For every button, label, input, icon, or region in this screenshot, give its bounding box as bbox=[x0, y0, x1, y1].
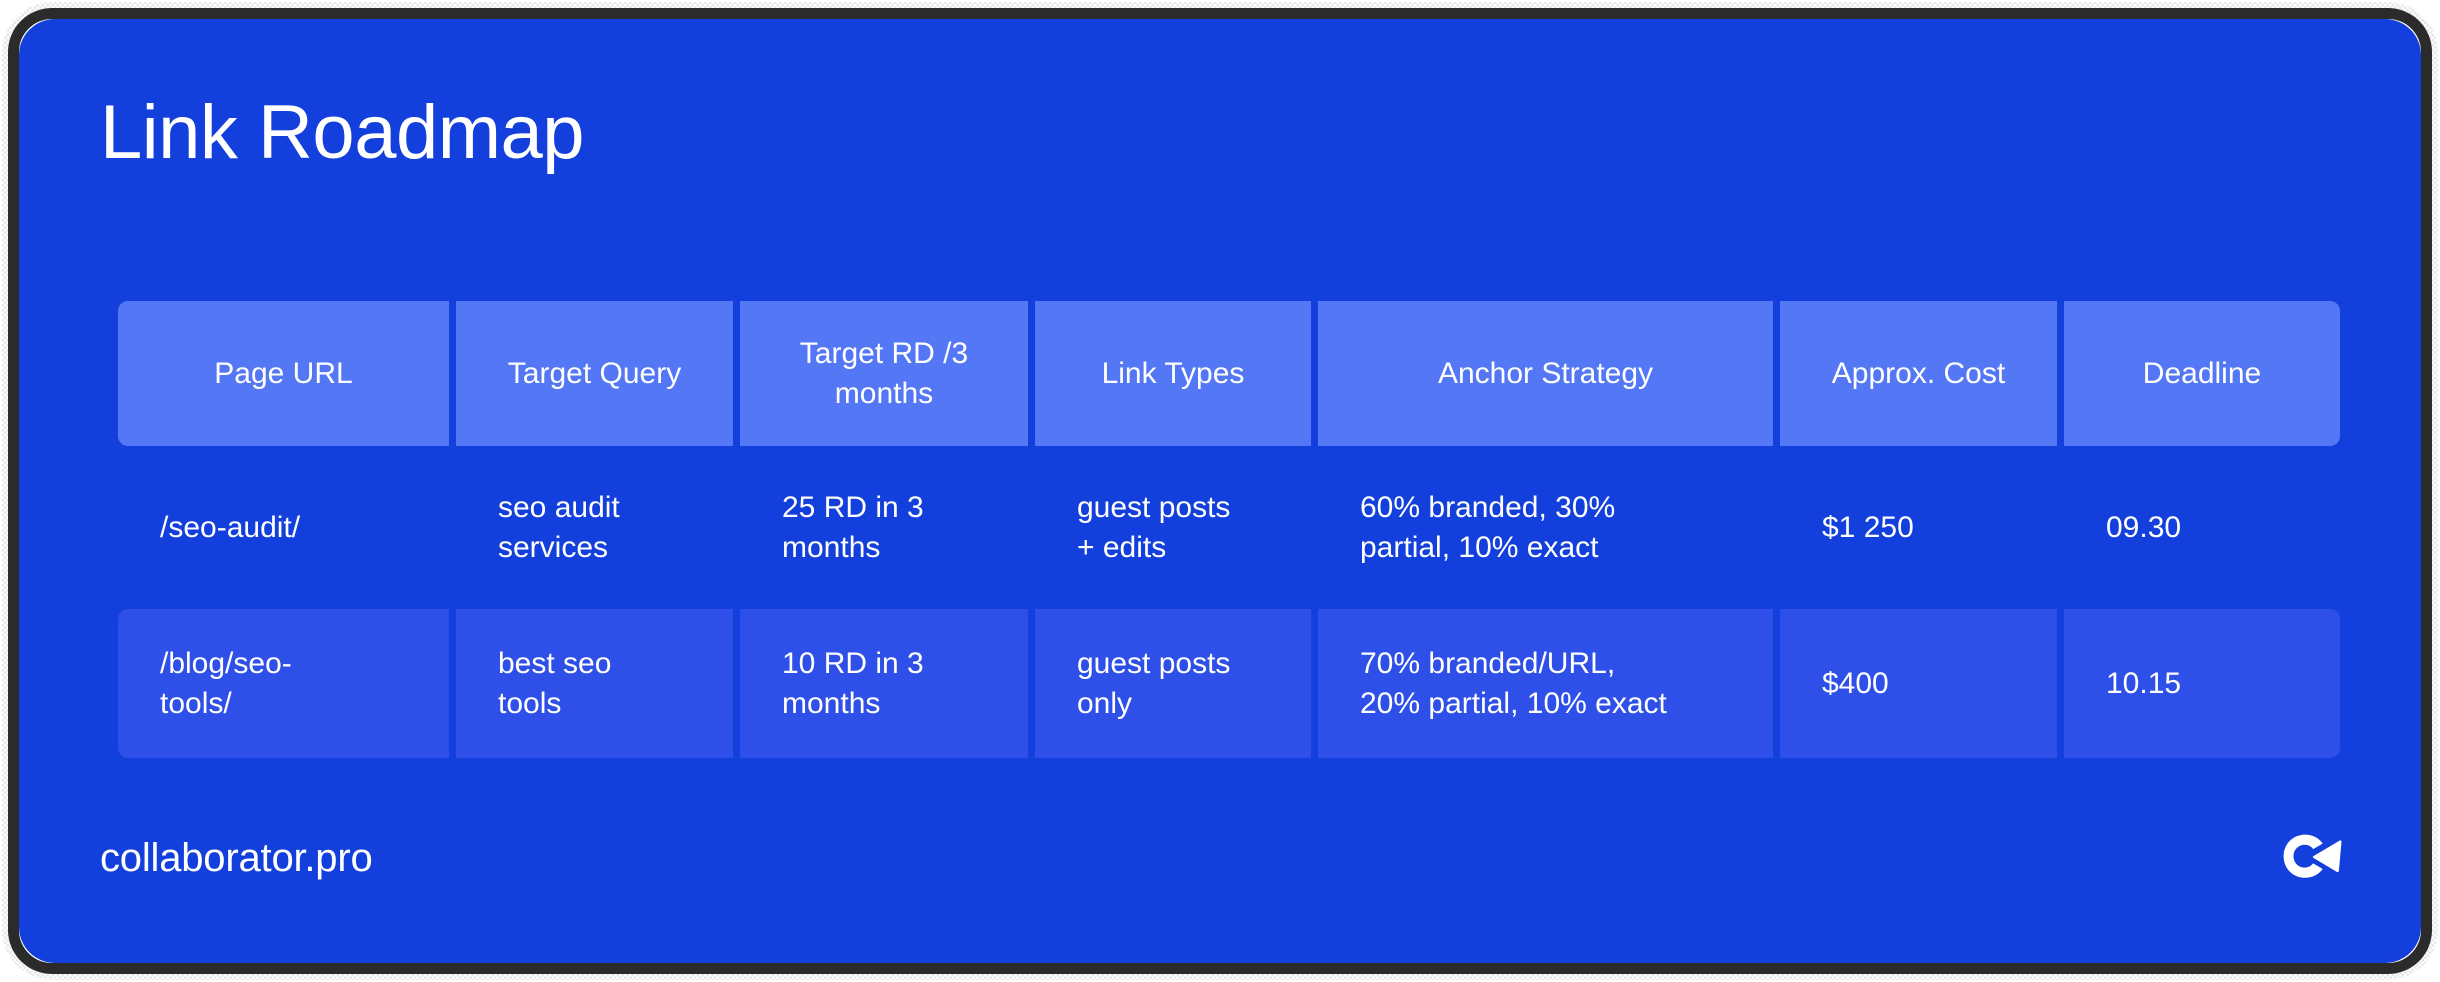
cell-page-url: /seo-audit/ bbox=[118, 453, 449, 602]
cell-target-query: seo audit services bbox=[456, 453, 733, 602]
column-header-page-url: Page URL bbox=[118, 301, 449, 446]
cell-line-1: guest posts bbox=[1077, 644, 1230, 684]
cell-value: 60% branded, 30% partial, 10% exact bbox=[1360, 488, 1615, 567]
cell-approx-cost: $1 250 bbox=[1780, 453, 2057, 602]
cell-value: 09.30 bbox=[2106, 508, 2181, 548]
column-header-anchor-strategy: Anchor Strategy bbox=[1318, 301, 1773, 446]
column-header-label: Link Types bbox=[1102, 354, 1245, 394]
cell-deadline: 09.30 bbox=[2064, 453, 2340, 602]
brand-name: collaborator.pro bbox=[100, 838, 373, 878]
column-header-line-2: Query bbox=[600, 357, 682, 390]
cell-line-2: services bbox=[498, 528, 620, 568]
cell-value: $400 bbox=[1822, 664, 1889, 704]
column-header-line-2: Cost bbox=[1944, 357, 2006, 390]
cell-value: best seo tools bbox=[498, 644, 611, 723]
cell-value: 10 RD in 3 months bbox=[782, 644, 924, 723]
cell-line-1: 60% branded, 30% bbox=[1360, 488, 1615, 528]
cell-line-2: only bbox=[1077, 684, 1230, 724]
column-header-label: Target RD /3 months bbox=[754, 334, 1014, 413]
column-header-approx-cost: Approx. Cost bbox=[1780, 301, 2057, 446]
cell-line-2: + edits bbox=[1077, 528, 1230, 568]
cell-line-2: 20% partial, 10% exact bbox=[1360, 684, 1667, 724]
cell-target-rd: 10 RD in 3 months bbox=[740, 609, 1028, 758]
column-header-line-1: Target RD bbox=[800, 337, 935, 370]
cell-value: /blog/seo- tools/ bbox=[160, 644, 292, 723]
cell-value: 70% branded/URL, 20% partial, 10% exact bbox=[1360, 644, 1667, 723]
cell-value: /seo-audit/ bbox=[160, 508, 300, 548]
cell-line-1: best seo bbox=[498, 644, 611, 684]
cell-target-query: best seo tools bbox=[456, 609, 733, 758]
column-header-link-types: Link Types bbox=[1035, 301, 1311, 446]
cell-line-2: partial, 10% exact bbox=[1360, 528, 1615, 568]
cell-line-1: /blog/seo- bbox=[160, 644, 292, 684]
column-header-target-query: Target Query bbox=[456, 301, 733, 446]
cell-link-types: guest posts only bbox=[1035, 609, 1311, 758]
table-row: /seo-audit/ seo audit services 25 RD in … bbox=[118, 453, 2363, 602]
cell-line-2: months bbox=[782, 528, 924, 568]
table-row: /blog/seo- tools/ best seo tools 10 RD i… bbox=[118, 609, 2363, 758]
cell-target-rd: 25 RD in 3 months bbox=[740, 453, 1028, 602]
cell-value: guest posts only bbox=[1077, 644, 1230, 723]
page-title: Link Roadmap bbox=[100, 93, 584, 173]
cell-approx-cost: $400 bbox=[1780, 609, 2057, 758]
roadmap-table: Page URL Target Query Target RD /3 month… bbox=[118, 301, 2363, 758]
column-header-label: Target Query bbox=[508, 354, 681, 394]
cell-line-1: guest posts bbox=[1077, 488, 1230, 528]
table-header-row: Page URL Target Query Target RD /3 month… bbox=[118, 301, 2363, 446]
card-footer: collaborator.pro bbox=[100, 827, 2343, 889]
link-roadmap-card: Link Roadmap Page URL Target Query Targe… bbox=[19, 19, 2421, 963]
cell-value: seo audit services bbox=[498, 488, 620, 567]
cell-line-1: seo audit bbox=[498, 488, 620, 528]
cell-value: 25 RD in 3 months bbox=[782, 488, 924, 567]
cell-page-url: /blog/seo- tools/ bbox=[118, 609, 449, 758]
cell-line-1: 70% branded/URL, bbox=[1360, 644, 1667, 684]
cell-deadline: 10.15 bbox=[2064, 609, 2340, 758]
cell-line-2: tools/ bbox=[160, 684, 292, 724]
cell-line-2: tools bbox=[498, 684, 611, 724]
page-root: Link Roadmap Page URL Target Query Targe… bbox=[0, 0, 2440, 982]
cell-line-2: months bbox=[782, 684, 924, 724]
collaborator-logo-icon bbox=[2281, 834, 2343, 882]
cell-line-1: 10 RD in 3 bbox=[782, 644, 924, 684]
column-header-deadline: Deadline bbox=[2064, 301, 2340, 446]
cell-value: 10.15 bbox=[2106, 664, 2181, 704]
cell-value: guest posts + edits bbox=[1077, 488, 1230, 567]
column-header-line-1: Approx. bbox=[1832, 357, 1935, 390]
column-header-target-rd: Target RD /3 months bbox=[740, 301, 1028, 446]
column-header-label: Anchor Strategy bbox=[1438, 354, 1653, 394]
cell-value: $1 250 bbox=[1822, 508, 1914, 548]
column-header-label: Approx. Cost bbox=[1832, 354, 2005, 394]
cell-line-1: 25 RD in 3 bbox=[782, 488, 924, 528]
column-header-label: Deadline bbox=[2143, 354, 2261, 394]
column-header-label: Page URL bbox=[214, 354, 352, 394]
cell-link-types: guest posts + edits bbox=[1035, 453, 1311, 602]
cell-anchor-strategy: 70% branded/URL, 20% partial, 10% exact bbox=[1318, 609, 1773, 758]
column-header-line-1: Target bbox=[508, 357, 591, 390]
cell-anchor-strategy: 60% branded, 30% partial, 10% exact bbox=[1318, 453, 1773, 602]
